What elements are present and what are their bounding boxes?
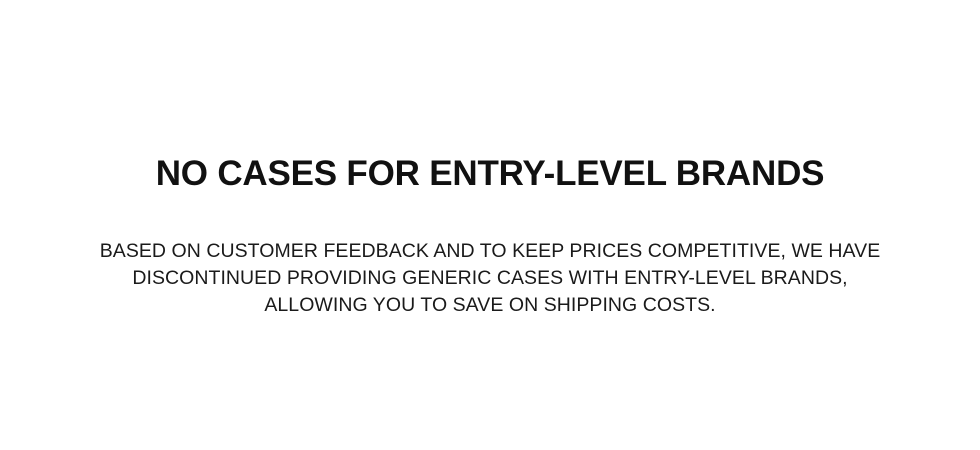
policy-notice-section: NO CASES FOR ENTRY-LEVEL BRANDS BASED ON… [0, 0, 980, 450]
notice-body-text: BASED ON CUSTOMER FEEDBACK AND TO KEEP P… [90, 238, 890, 319]
page-title: NO CASES FOR ENTRY-LEVEL BRANDS [80, 155, 900, 193]
heading-body-spacer [80, 193, 900, 238]
notice-content-container: NO CASES FOR ENTRY-LEVEL BRANDS BASED ON… [40, 155, 940, 319]
